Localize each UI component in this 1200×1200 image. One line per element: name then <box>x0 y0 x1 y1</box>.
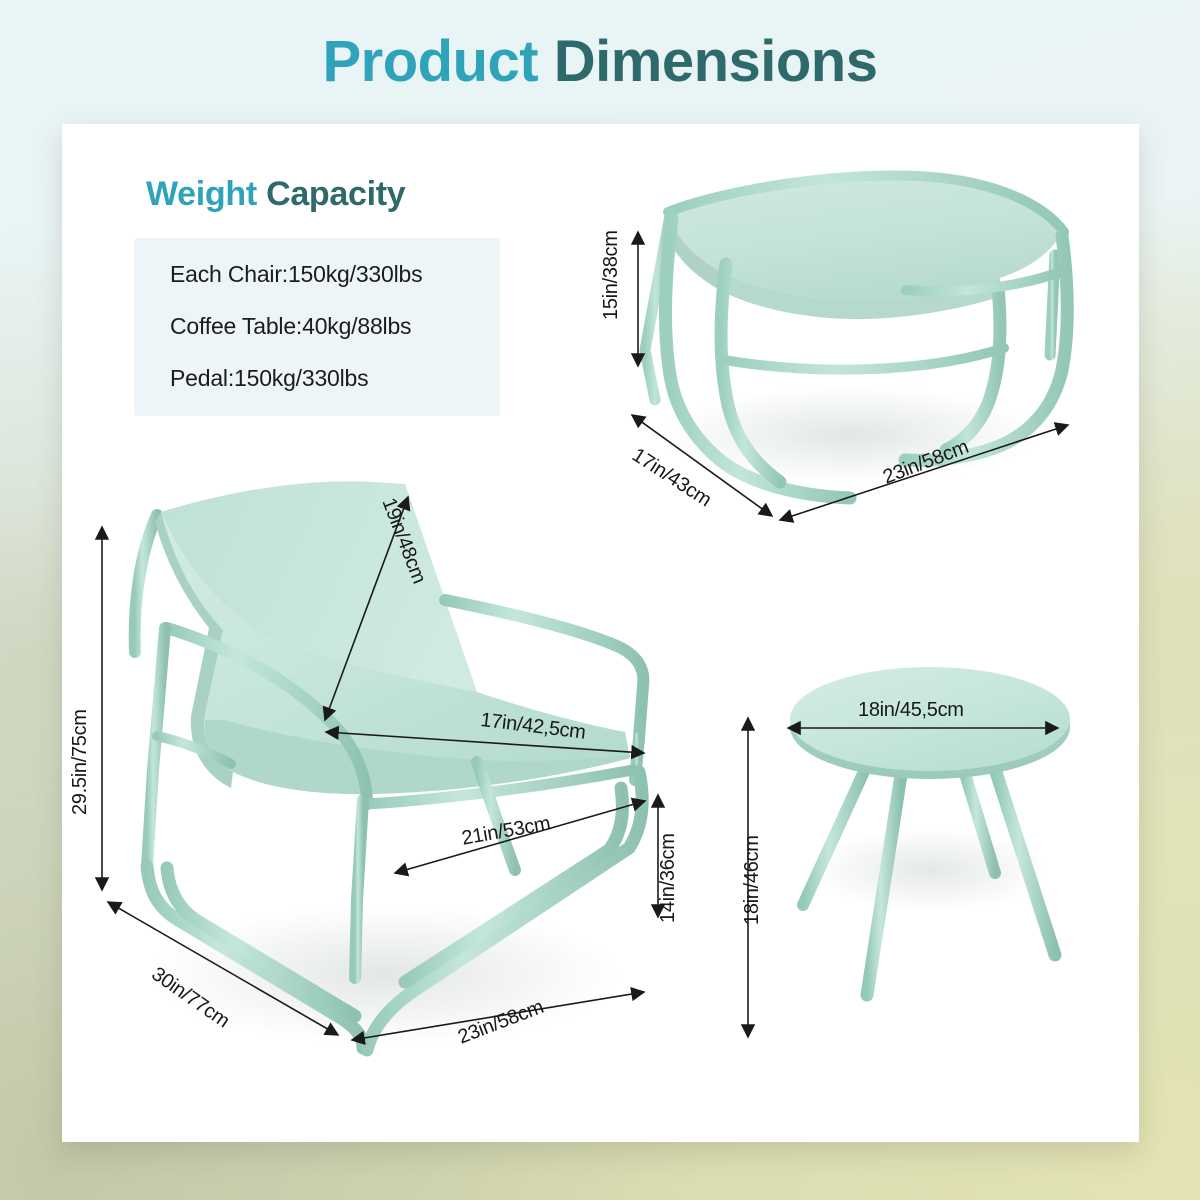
page-title-part1: Product <box>323 29 539 94</box>
page-title: Product Dimensions <box>0 33 1200 91</box>
weight-capacity-item-chair: Each Chair:150kg/330lbs <box>170 261 422 288</box>
weight-capacity-title-part1: Weight <box>146 175 257 213</box>
chair-dimension-arrows <box>60 470 700 1110</box>
chair-seat-height-label: 14in/36cm <box>657 833 680 923</box>
side-table-diameter-label: 18in/45,5cm <box>858 699 964 722</box>
weight-capacity-item-coffee-table: Coffee Table:40kg/88lbs <box>170 313 411 340</box>
weight-capacity-title-part2: Capacity <box>266 175 405 213</box>
page-title-part2: Dimensions <box>554 29 878 94</box>
side-table-dimension-arrows <box>730 680 1130 1080</box>
side-table-height-label: 18in/46cm <box>741 835 764 925</box>
chair-height-label: 29.5in/75cm <box>69 709 92 815</box>
chair-seat-depth-arrow <box>326 732 644 753</box>
weight-capacity-title: Weight Capacity <box>146 175 405 214</box>
weight-capacity-item-pedal: Pedal:150kg/330lbs <box>170 365 368 392</box>
ottoman-height-label: 15in/38cm <box>600 230 623 320</box>
